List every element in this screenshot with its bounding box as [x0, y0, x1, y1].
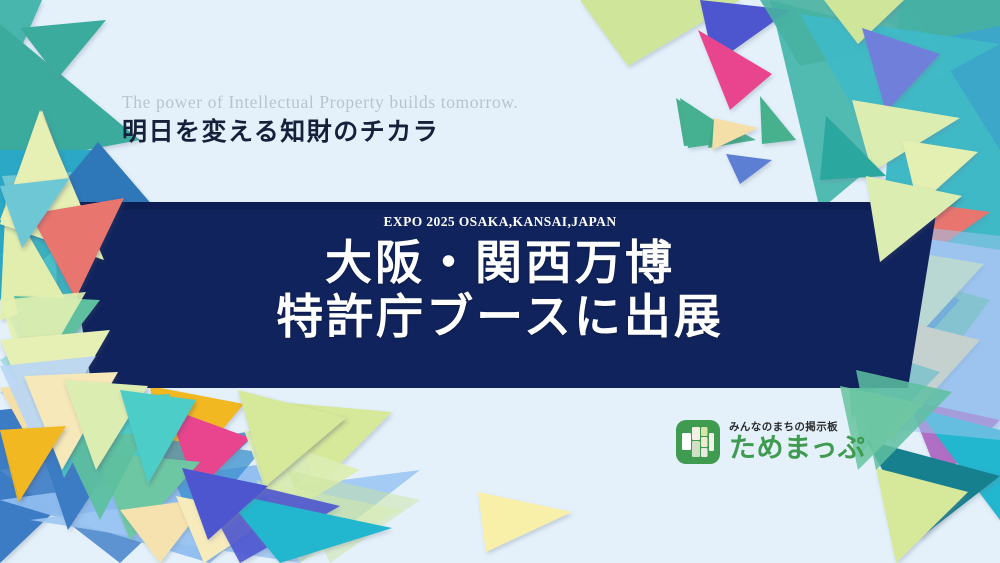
- main-banner: EXPO 2025 OSAKA,KANSAI,JAPAN 大阪・関西万博 特許庁…: [0, 196, 1000, 396]
- tagline-japanese: 明日を変える知財のチカラ: [122, 117, 518, 148]
- banner-text-group: EXPO 2025 OSAKA,KANSAI,JAPAN 大阪・関西万博 特許庁…: [0, 196, 1000, 396]
- tagline-english: The power of Intellectual Property build…: [122, 92, 518, 114]
- logo-wordmark: みんなのまちの掲示板 ためまっぷ: [729, 422, 865, 462]
- tamemap-logo-icon: [676, 420, 720, 464]
- headline-line-2: 特許庁ブースに出展: [276, 292, 724, 346]
- headline-line-1: 大阪・関西万博: [325, 238, 675, 292]
- logo-name: ためまっぷ: [729, 435, 865, 462]
- tagline-block: The power of Intellectual Property build…: [122, 92, 518, 148]
- poster-canvas: The power of Intellectual Property build…: [0, 0, 1000, 563]
- expo-eyebrow: EXPO 2025 OSAKA,KANSAI,JAPAN: [384, 214, 617, 230]
- logo-tagline: みんなのまちの掲示板: [729, 422, 865, 433]
- tamemap-logo-lockup[interactable]: みんなのまちの掲示板 ためまっぷ: [676, 420, 865, 464]
